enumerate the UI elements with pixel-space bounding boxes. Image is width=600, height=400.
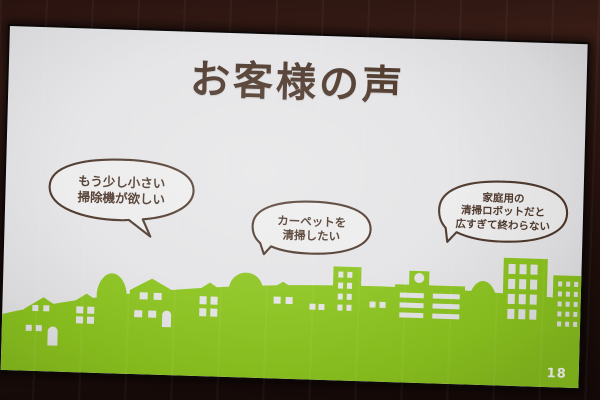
speech-bubble-3: 家庭用の 清掃ロボットだと 広すぎて終わらない [436,178,570,248]
page-title: お客様の声 [8,54,587,112]
speech-bubble-1-text: もう少し小さい 掃除機が欲しい [77,174,165,208]
dark-room-background: お客様の声 もう少し小さい 掃除機が欲しい カーペットを 清掃したい [0,0,600,400]
presentation-slide: お客様の声 もう少し小さい 掃除機が欲しい カーペットを 清掃したい [1,26,588,388]
speech-bubble-2-text: カーペットを 清掃したい [277,213,347,244]
speech-bubble-1: もう少し小さい 掃除機が欲しい [47,155,197,226]
page-number: 18 [546,366,566,382]
screen-bezel: お客様の声 もう少し小さい 掃除機が欲しい カーペットを 清掃したい [0,24,590,390]
projection-screen: お客様の声 もう少し小さい 掃除機が欲しい カーペットを 清掃したい [0,24,590,390]
apartment-1 [332,266,361,319]
speech-bubble-2: カーペットを 清掃したい [250,198,374,260]
speech-bubble-3-text: 家庭用の 清掃ロボットだと 広すぎて終わらない [455,191,551,233]
